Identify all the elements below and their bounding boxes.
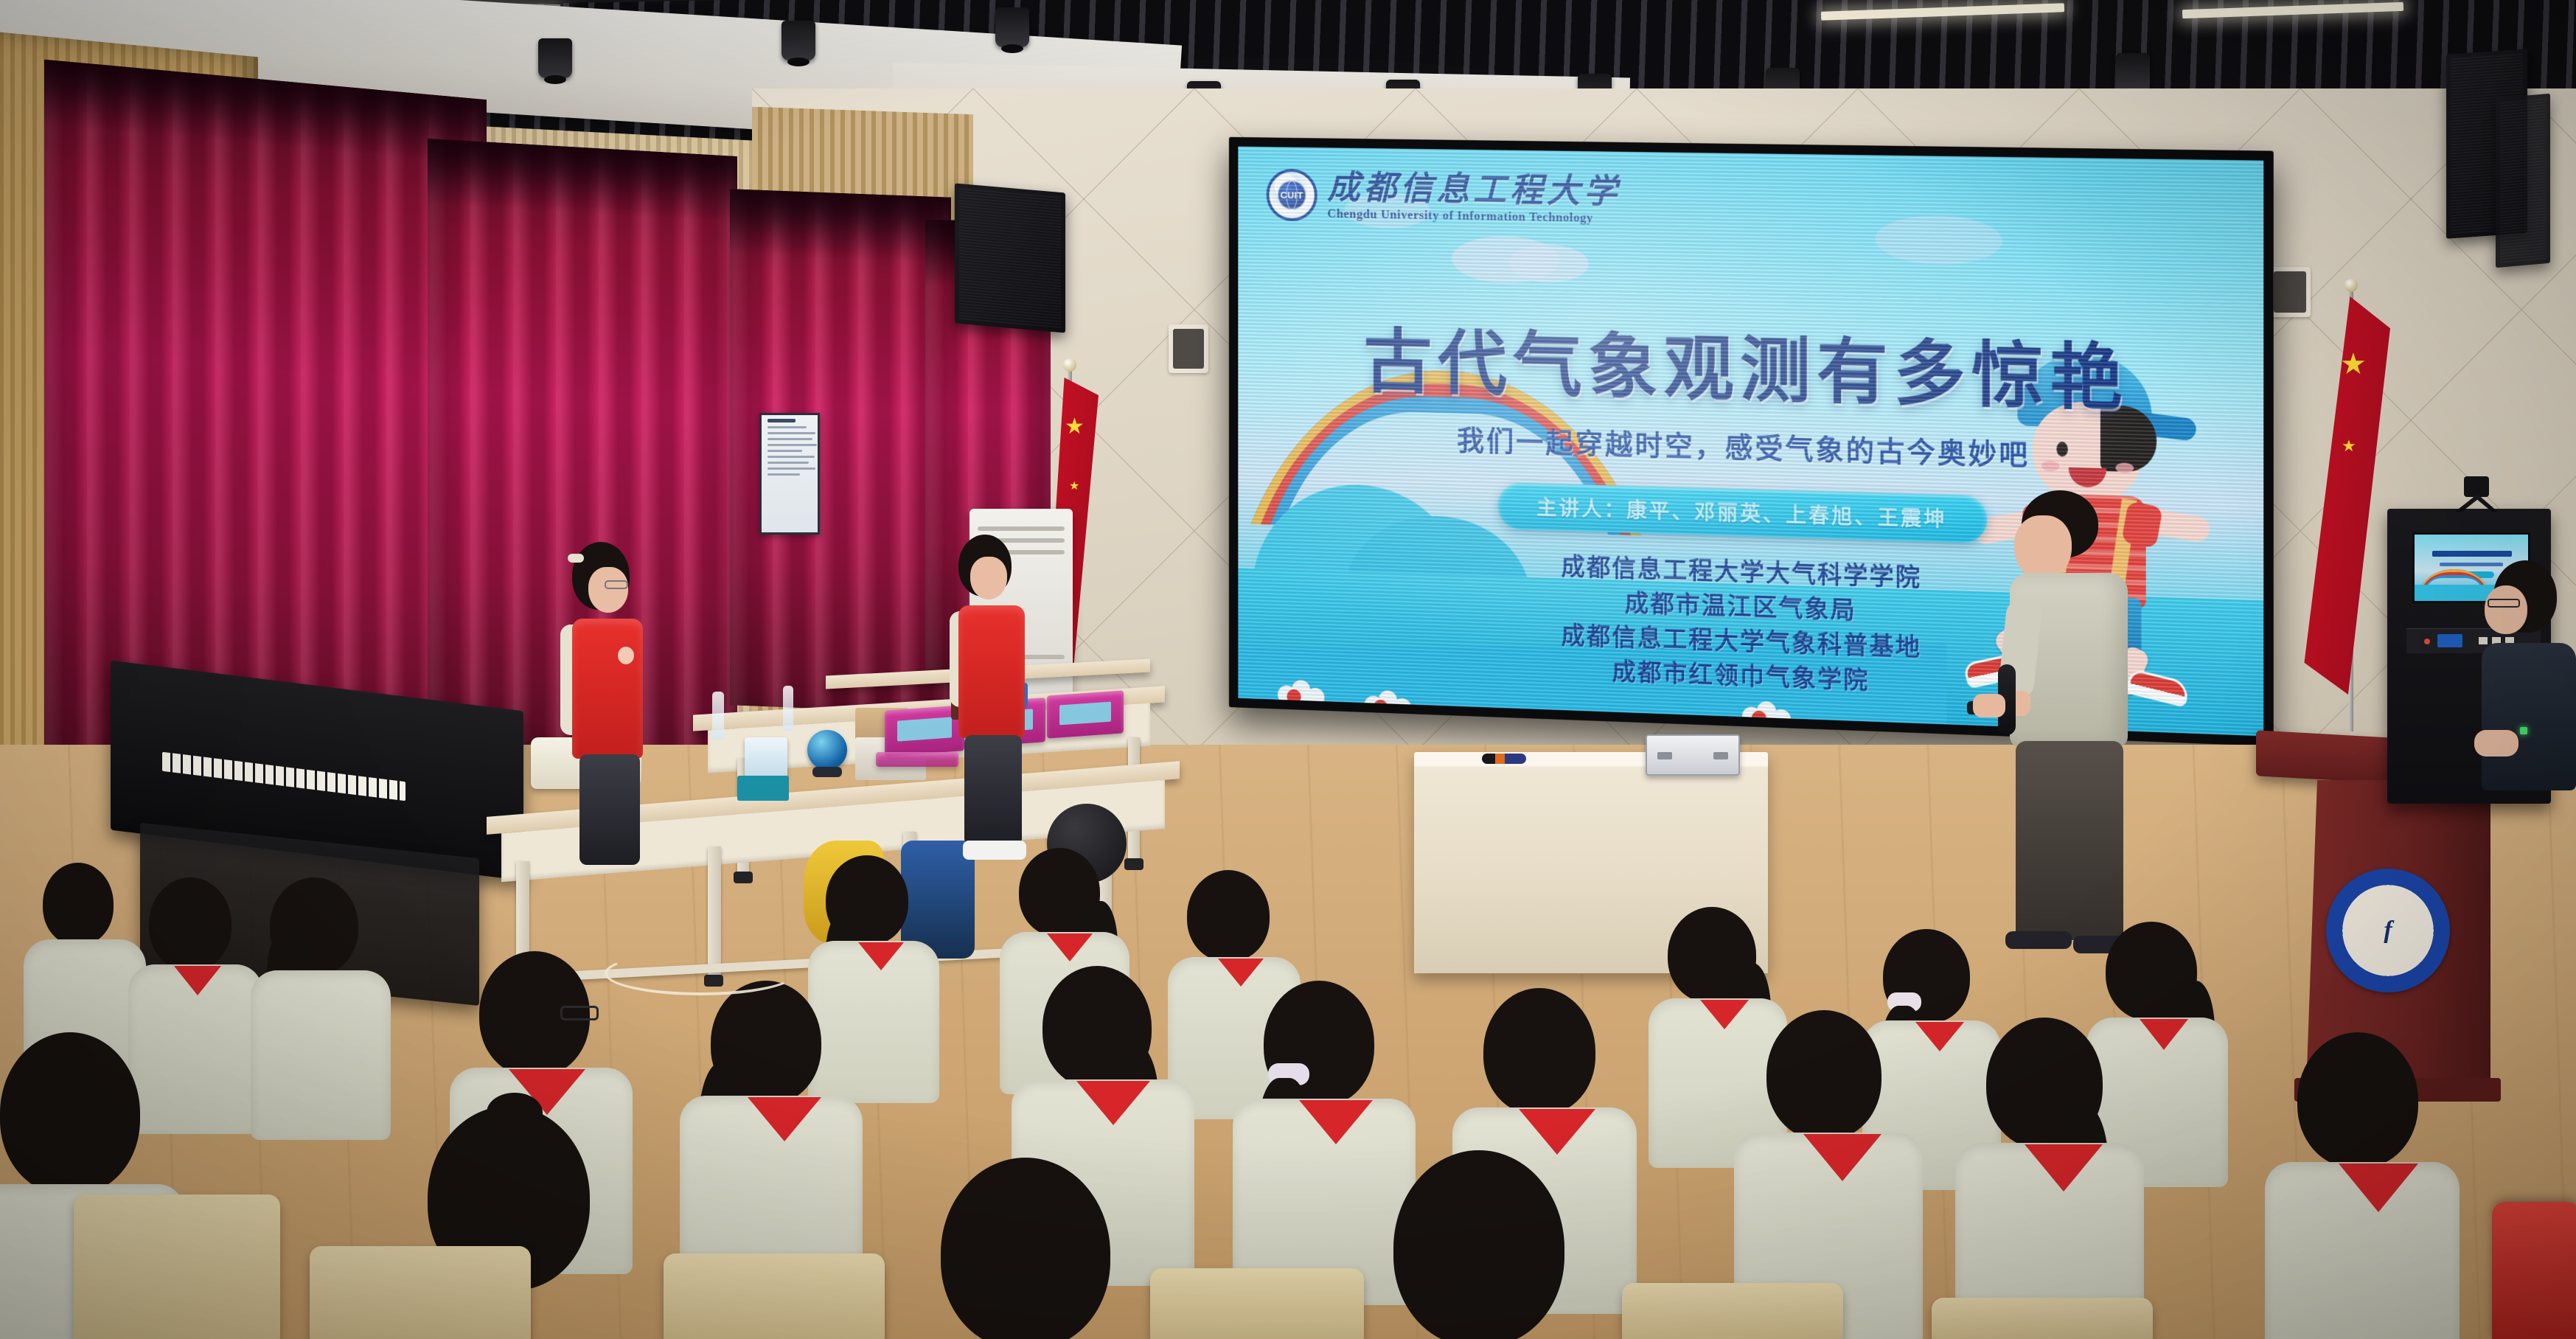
volunteer-left-vest-logo [618, 647, 634, 664]
floor-cable [605, 951, 796, 995]
presenter-hand-clicker [1973, 694, 2005, 717]
water-bottle-1 [712, 692, 724, 740]
camera-tripod-head [2464, 476, 2489, 497]
microphone-on-table[interactable] [1482, 754, 1526, 764]
student-r2-6 [1740, 1010, 1917, 1327]
head [1187, 870, 1270, 961]
flag-star-small-left: ★ [1069, 481, 1079, 493]
av-operator-arm [2474, 730, 2518, 757]
student-r1-3 [914, 1158, 1158, 1339]
wall-control-plate-left[interactable] [1169, 324, 1208, 373]
ceiling-spotlight-3 [995, 7, 1029, 47]
head [1483, 988, 1595, 1115]
globe-stand [812, 767, 842, 777]
student-r2-2 [686, 981, 855, 1290]
case-latch-left [1657, 752, 1672, 759]
head [149, 877, 232, 970]
student-r2-8 [2271, 1032, 2455, 1339]
student-r2-7 [1961, 1018, 2138, 1335]
head [1393, 1150, 1564, 1339]
head [43, 863, 114, 945]
globe-model [807, 730, 847, 770]
cloud-4 [1876, 215, 2002, 266]
ceiling-spotlight-8 [2116, 53, 2150, 93]
head [2297, 1032, 2418, 1168]
chair-6[interactable] [1932, 1298, 2153, 1339]
volunteer-left-red-vest [572, 619, 643, 759]
volunteer-center-red-vest [958, 605, 1025, 738]
presenter-face [2014, 515, 2072, 580]
ceiling-spotlight-2 [781, 21, 815, 60]
volunteer-left-trousers [579, 754, 640, 865]
slide-presenters-pill: 主讲人：康平、邓丽英、上春旭、王震坤 [1497, 482, 1987, 543]
av-operator-face [2485, 585, 2527, 634]
speaker-far-right [2496, 94, 2550, 268]
chair-2[interactable] [310, 1246, 531, 1339]
uniform [251, 970, 391, 1140]
emblem-mark: f [2384, 917, 2392, 945]
water-bottle-2 [783, 686, 793, 731]
instrument-box-white [745, 737, 787, 777]
flag-star-small-right: ★ [2342, 438, 2356, 454]
monitor-slide-title-line [2432, 551, 2512, 557]
slide-university-logo: CUIT 成都信息工程大学 Chengdu University of Info… [1267, 169, 1621, 227]
volunteer-center-face [970, 557, 1007, 599]
instrument-box-teal [737, 776, 789, 801]
amp-display [2437, 634, 2462, 647]
head [0, 1032, 140, 1194]
university-name-cn: 成都信息工程大学 [1327, 170, 1621, 209]
amp-power-led [2424, 639, 2430, 644]
wall-notice-board [759, 413, 820, 535]
chair-5[interactable] [1622, 1283, 1843, 1339]
volunteer-left-hairclip [568, 554, 584, 563]
volunteer-center-trousers [964, 735, 1022, 846]
flag-star-large-right: ★ [2340, 349, 2367, 379]
volunteer-left [547, 542, 665, 866]
volunteer-left-glasses [605, 580, 628, 589]
speaker-left [955, 183, 1065, 333]
storage-bin-3 [1047, 690, 1124, 738]
red-equipment-bottom-right [2492, 1202, 2576, 1339]
student-r3-3 [251, 877, 391, 1135]
hair-bun [487, 1093, 543, 1133]
chair-4[interactable] [1150, 1268, 1364, 1339]
volunteer-left-face [588, 567, 628, 613]
flag-pole-ball-right [2344, 279, 2358, 292]
glasses [560, 1006, 599, 1020]
cuit-badge-text: CUIT [1281, 189, 1303, 201]
wall-control-plate-right[interactable] [2269, 267, 2311, 317]
cuit-logo-badge: CUIT [1267, 169, 1317, 222]
av-operator-badge-led [2520, 727, 2527, 734]
chair-3[interactable] [664, 1253, 885, 1339]
presenter-shoe-left [2005, 931, 2072, 949]
ceiling-spotlight-1 [538, 38, 572, 78]
chair-1[interactable] [74, 1194, 280, 1339]
silver-equipment-case[interactable] [1646, 734, 1740, 776]
av-operator [2471, 560, 2576, 804]
head [941, 1158, 1110, 1339]
volunteer-center [938, 535, 1048, 852]
flag-pole-ball-left [1063, 358, 1076, 372]
case-latch-right [1713, 752, 1728, 759]
presenter [1968, 490, 2182, 947]
student-r1-4 [1364, 1150, 1607, 1339]
av-operator-glasses [2488, 599, 2520, 608]
head [1766, 1010, 1881, 1140]
flag-star-large-left: ★ [1065, 416, 1085, 438]
lectern-school-emblem: f [2326, 869, 2450, 992]
av-operator-shirt [2482, 643, 2576, 790]
lecture-hall-photo: CUIT 成都信息工程大学 Chengdu University of Info… [0, 0, 2576, 1339]
presenter-trousers [2016, 741, 2123, 940]
